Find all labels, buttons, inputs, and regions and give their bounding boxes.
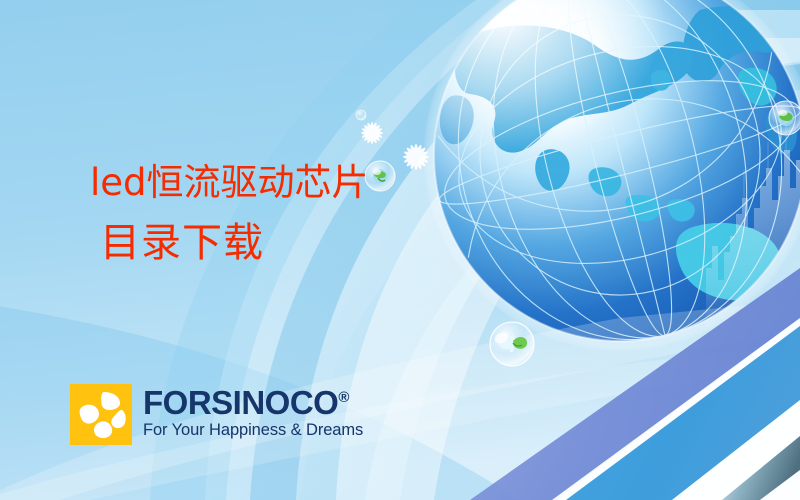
sparkle-asterisk-1 [361,122,383,144]
brand-wordmark-text: FORSINOCO [143,384,338,421]
forsinoco-pinwheel-mark-icon [70,384,132,445]
bubble-leaf-large [490,322,534,366]
brand-logo-lockup[interactable]: FORSINOCO® For Your Happiness & Dreams [70,384,363,445]
sparkle-asterisk-2 [403,144,429,170]
brand-tagline: For Your Happiness & Dreams [143,421,363,440]
registered-trademark-symbol: ® [338,389,349,406]
bubble-tiny-top [356,110,366,120]
bubble-globe-right [769,101,800,135]
banner-canvas: led恒流驱动芯片 目录下载 FORSINOCO® For Your Happi… [0,0,800,500]
brand-wordmark: FORSINOCO® [143,386,363,419]
bubble-globe-small [365,161,395,191]
brand-text-block: FORSINOCO® For Your Happiness & Dreams [143,384,363,440]
